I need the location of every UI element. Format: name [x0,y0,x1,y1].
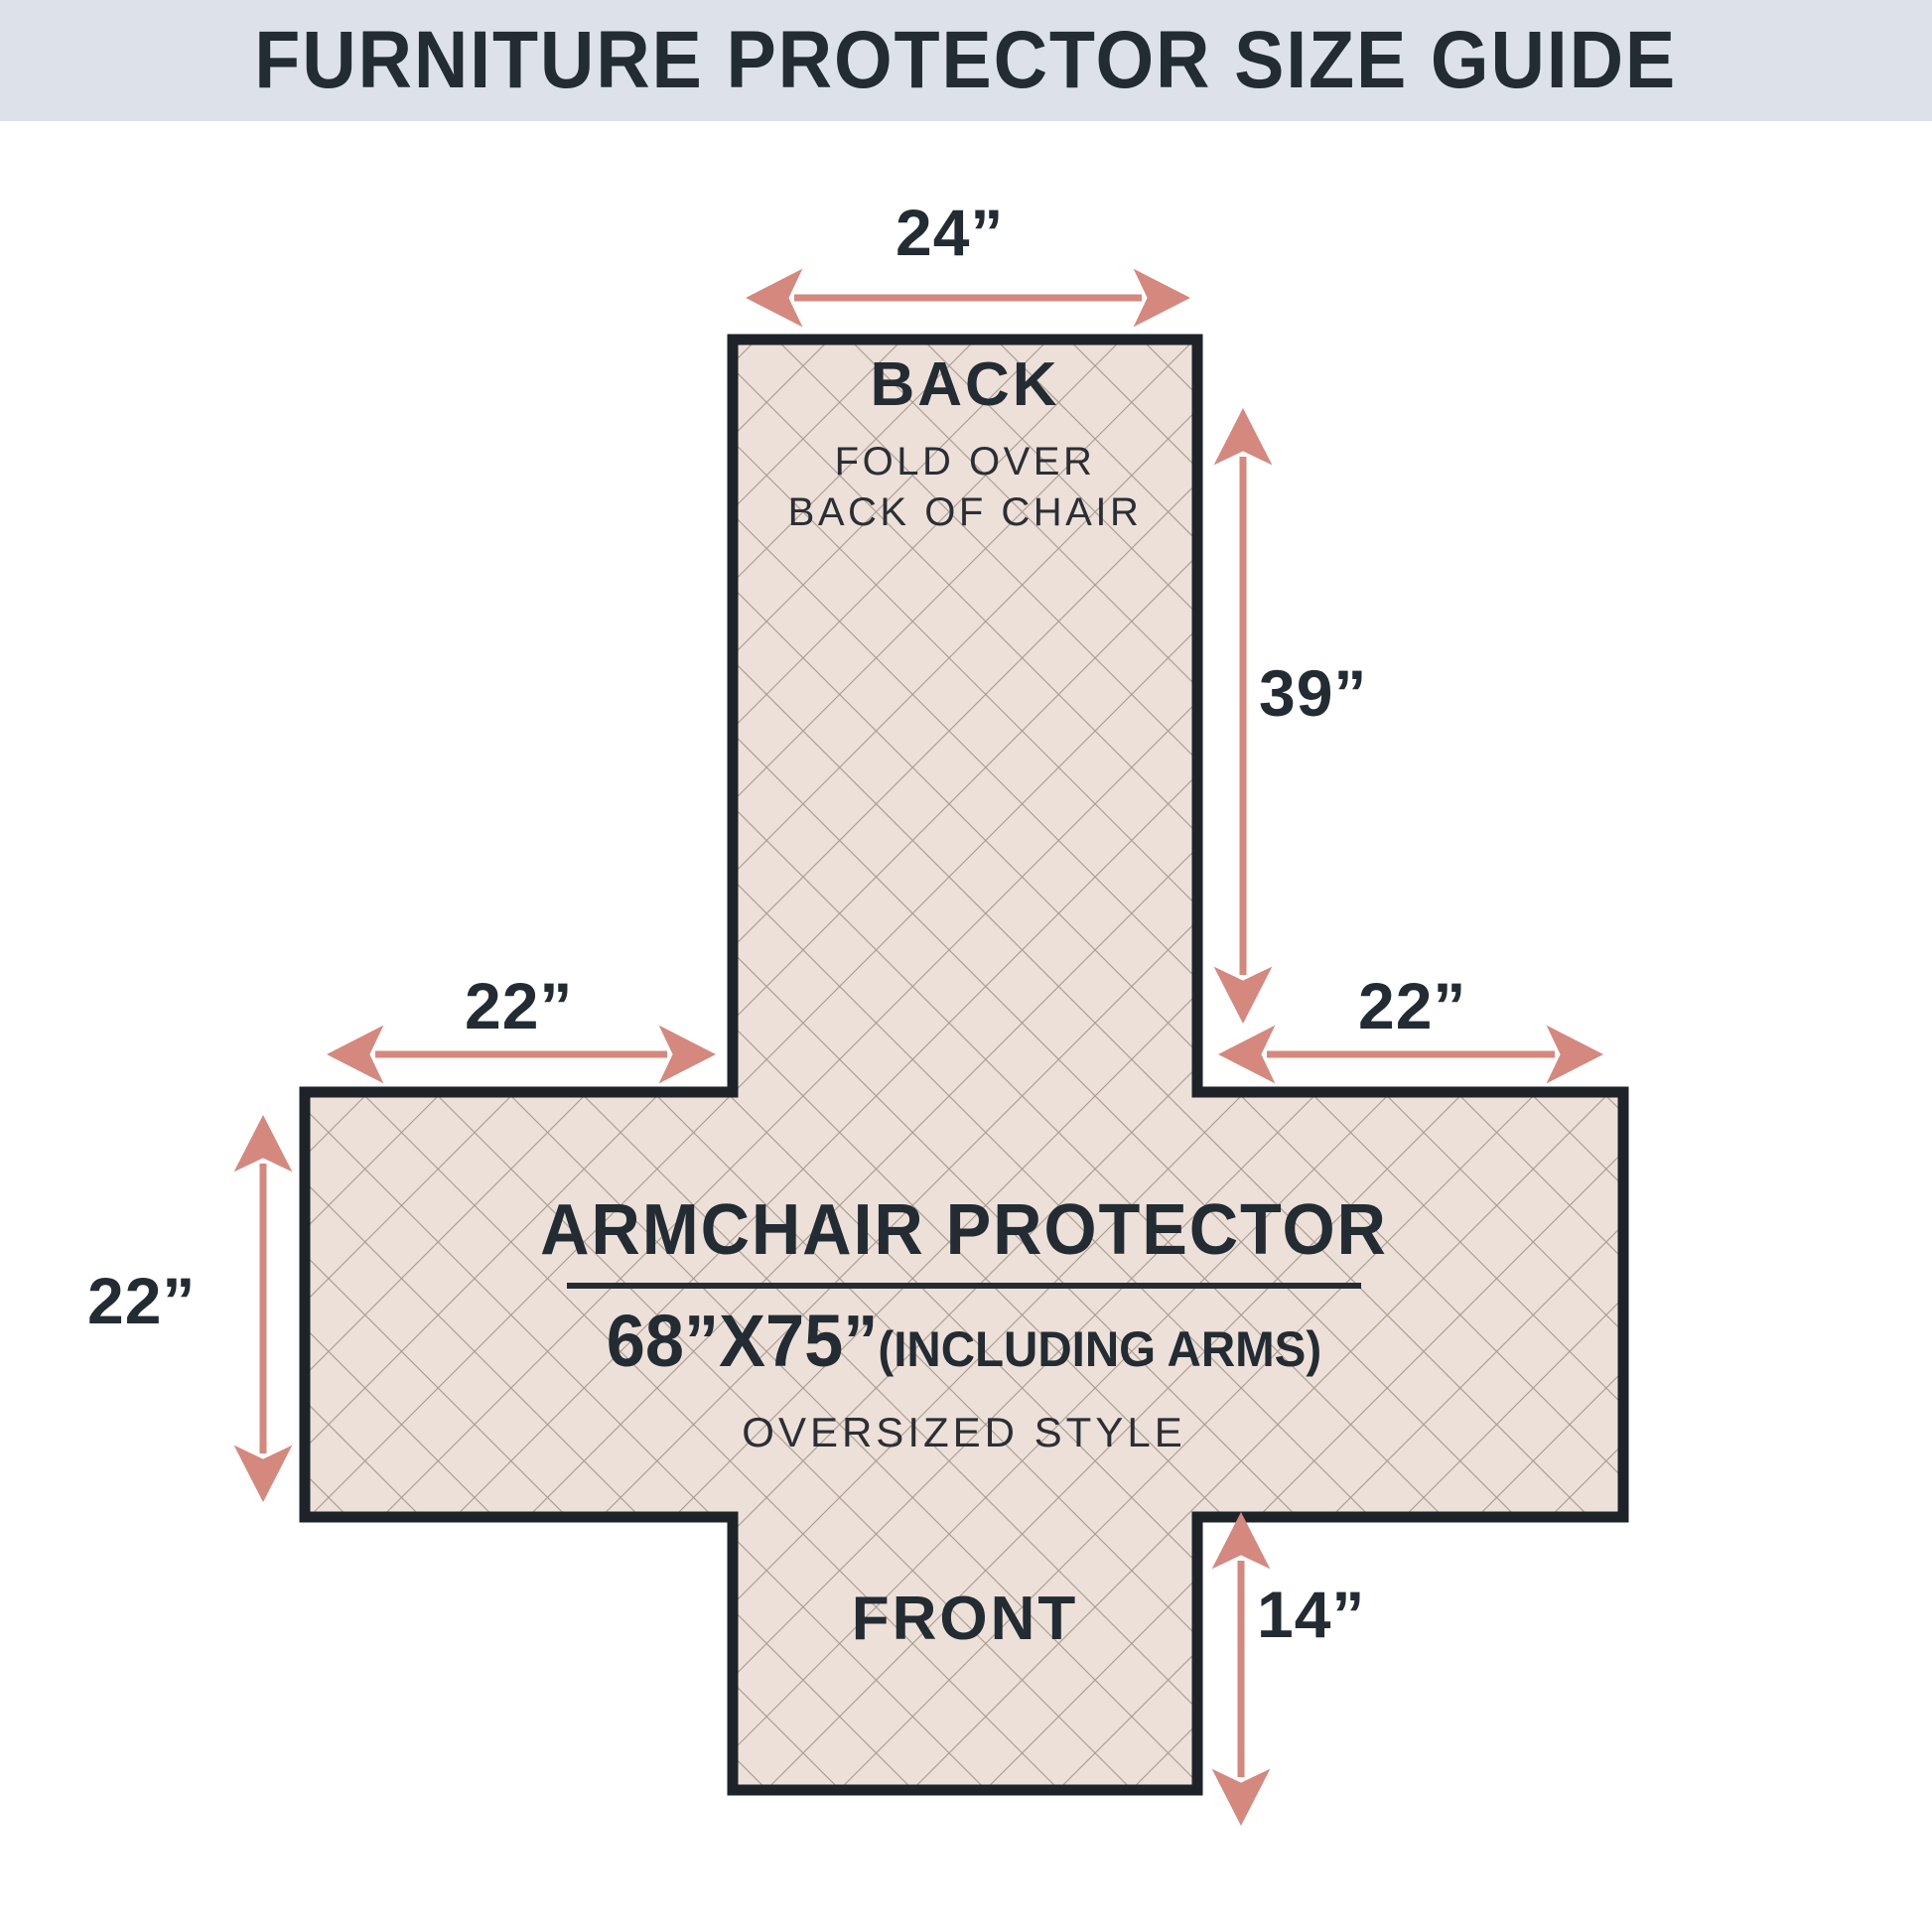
dimension-label-arm-left: 22” [465,968,573,1043]
front-panel-label: FRONT [733,1584,1197,1654]
title-divider [567,1283,1361,1289]
product-dimension-secondary: (INCLUDING ARMS) [878,1321,1321,1377]
dimension-label-arm-right: 22” [1358,968,1466,1043]
product-dimensions: 68”X75”(INCLUDING ARMS) [338,1299,1590,1383]
product-title: ARMCHAIR PROTECTOR [338,1189,1590,1271]
back-panel-note-line-2: BACK OF CHAIR [693,487,1237,538]
center-title-block: ARMCHAIR PROTECTOR 68”X75”(INCLUDING ARM… [305,1189,1623,1456]
dimension-label-back-height: 39” [1259,655,1367,731]
protector-shape [305,340,1623,1790]
back-panel-note: FOLD OVER BACK OF CHAIR [693,437,1237,538]
protector-outline [305,340,1623,1790]
back-panel-note-line-1: FOLD OVER [693,437,1237,487]
product-dimension-primary: 68”X75” [607,1300,879,1382]
dimension-label-back-width: 24” [896,195,1004,270]
size-guide-canvas: FURNITURE PROTECTOR SIZE GUIDE [0,0,1932,1932]
back-panel-label: BACK [733,349,1197,420]
product-subtitle: OVERSIZED STYLE [305,1409,1623,1456]
dimension-label-front-height: 14” [1257,1577,1365,1652]
dimension-label-arm-depth: 22” [87,1263,196,1338]
